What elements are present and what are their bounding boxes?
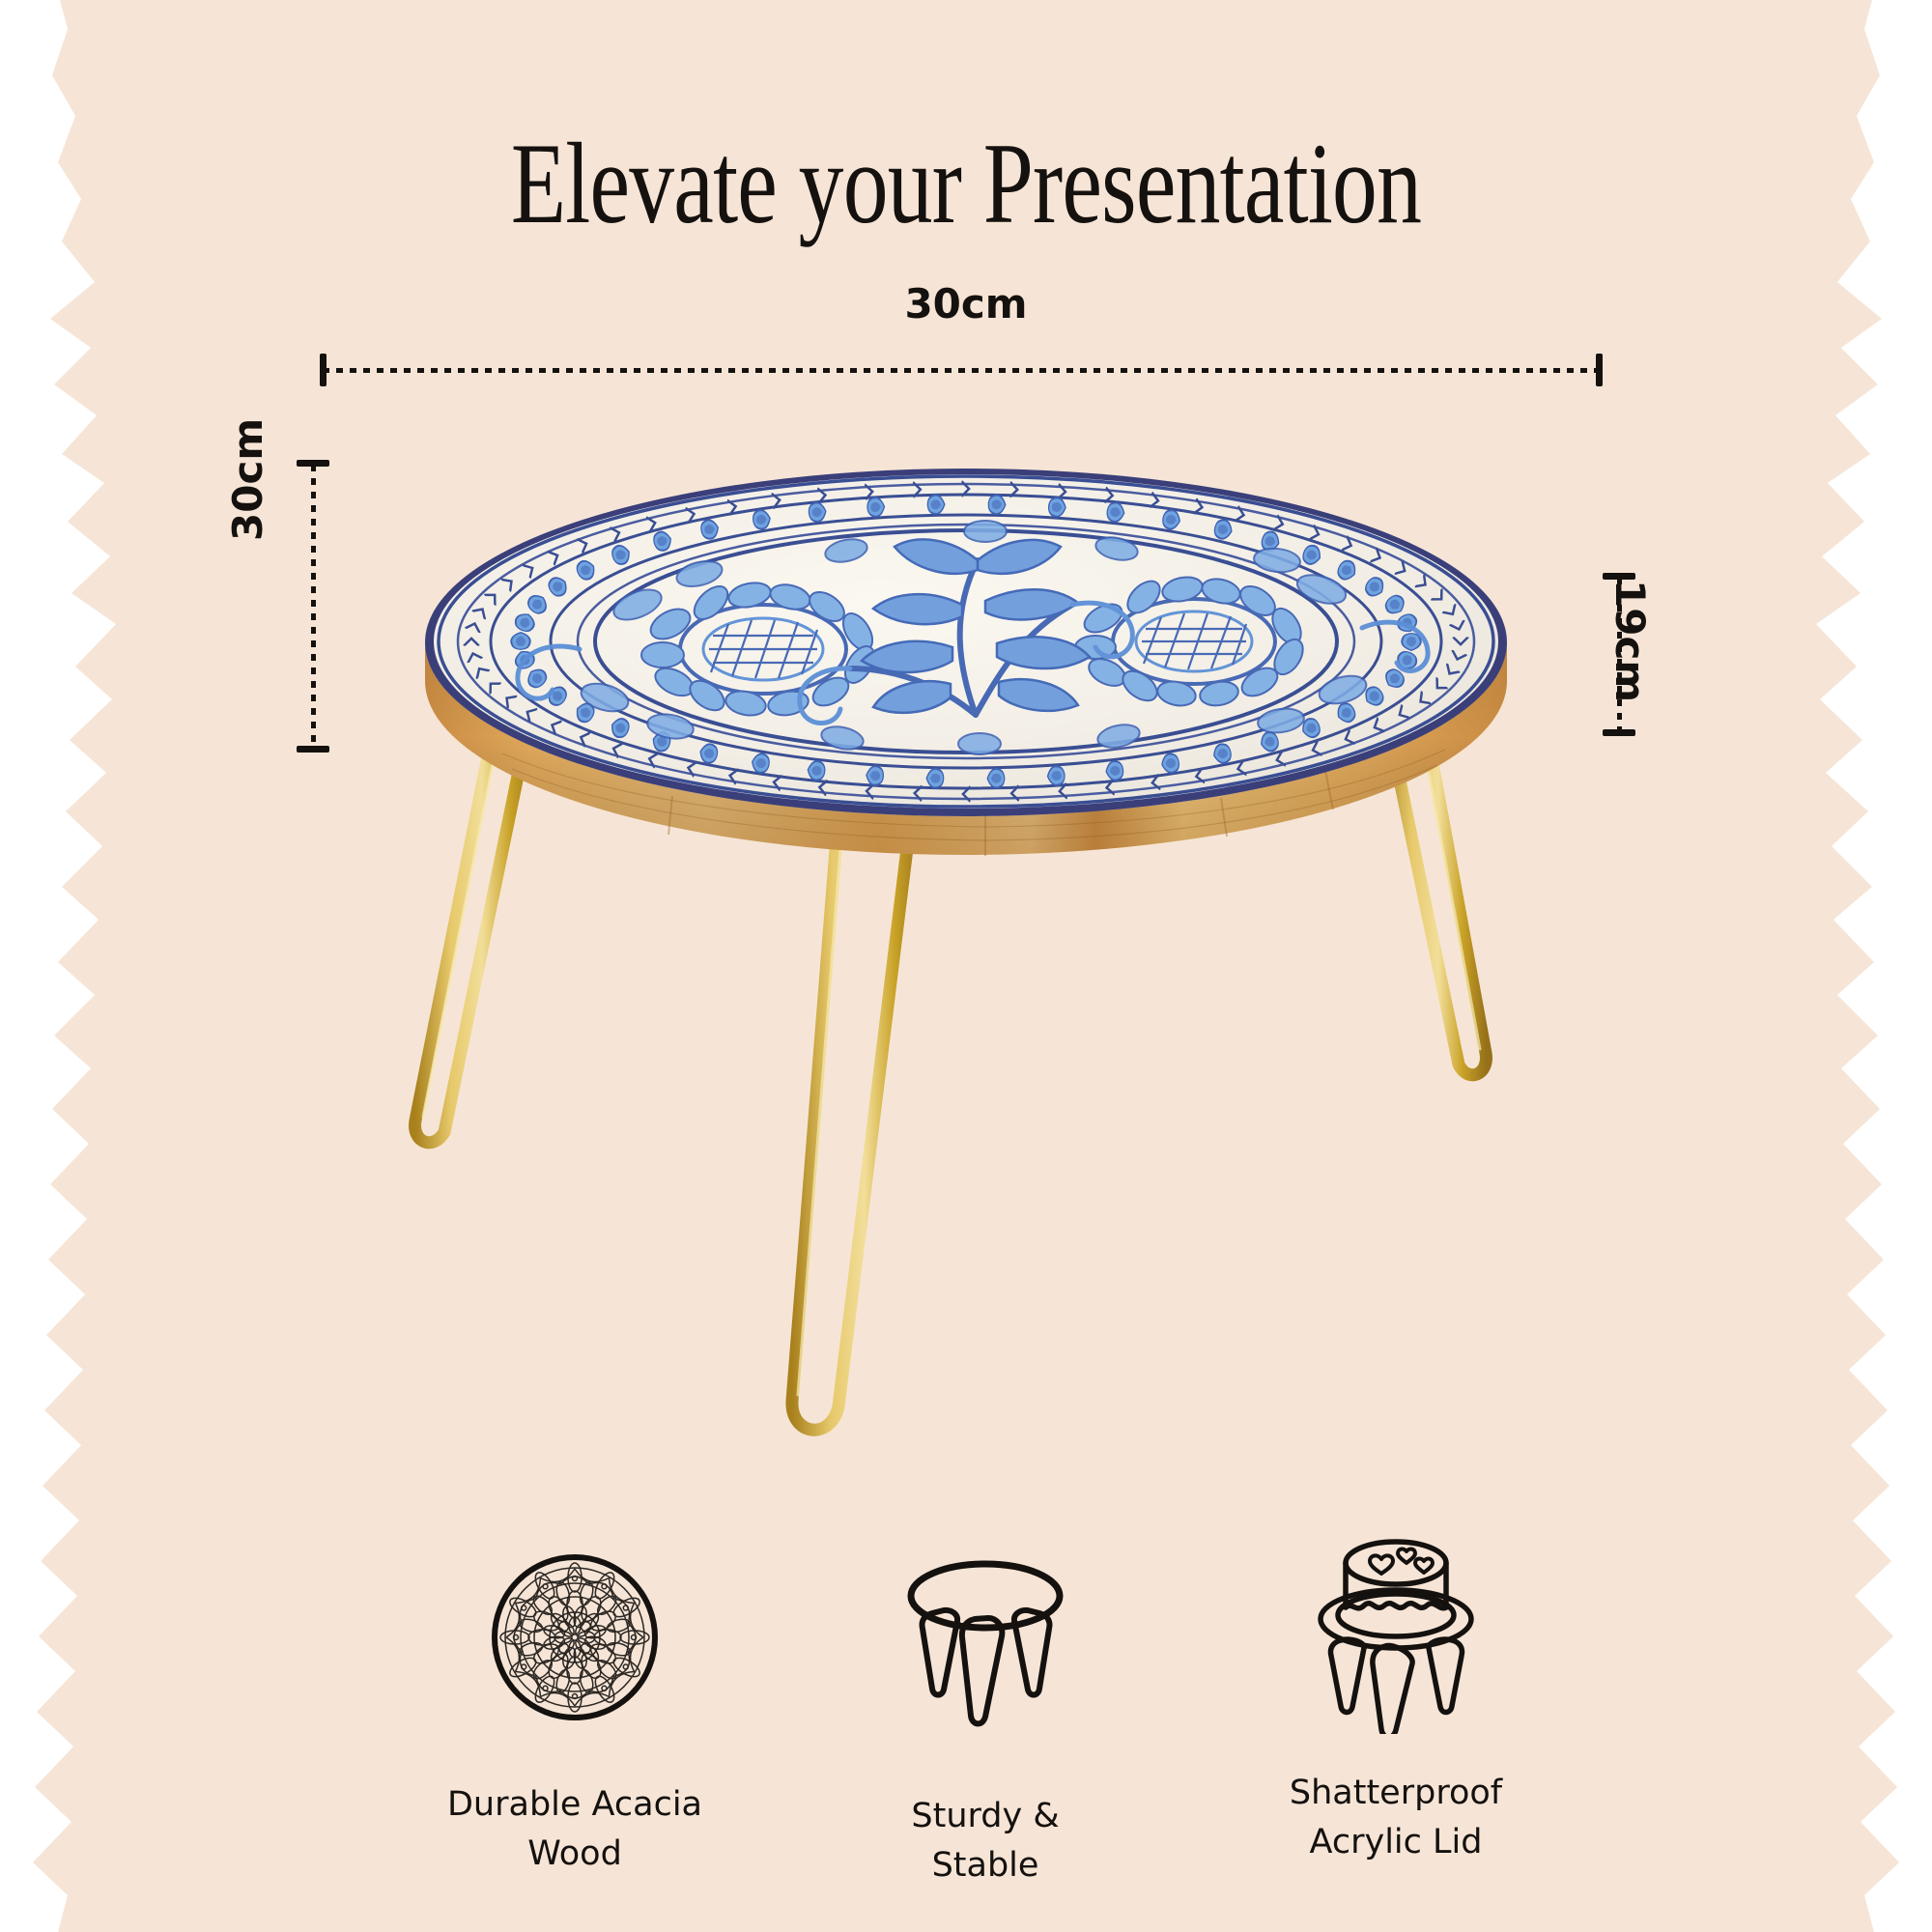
feature-list: Durable Acacia Wood Sturdy & Stable — [415, 1526, 1555, 1913]
mandala-pattern-icon — [478, 1526, 671, 1734]
dimension-line-width — [323, 368, 1600, 373]
dimension-cap-width-right — [1596, 354, 1603, 386]
dimension-cap-width-left — [320, 354, 327, 386]
dimension-label-width: 30cm — [0, 280, 1932, 327]
feature-item-sturdy-stable: Sturdy & Stable — [826, 1526, 1145, 1890]
product-image-cake-stand — [309, 425, 1623, 1507]
infographic-canvas: Elevate your Presentation 30cm 30cm 19cm — [0, 0, 1932, 1932]
cake-on-stand-icon — [1293, 1526, 1500, 1734]
page-title: Elevate your Presentation — [213, 126, 1719, 241]
ceramic-tabletop — [425, 469, 1507, 816]
feature-item-acrylic-lid: Shatterproof Acrylic Lid — [1236, 1526, 1555, 1867]
feature-label: Durable Acacia Wood — [447, 1780, 702, 1879]
feature-label: Sturdy & Stable — [911, 1792, 1059, 1890]
feature-label: Shatterproof Acrylic Lid — [1290, 1769, 1502, 1867]
three-legged-stool-icon — [882, 1526, 1090, 1734]
feature-item-acacia-wood: Durable Acacia Wood — [415, 1526, 734, 1879]
dimension-label-diameter: 30cm — [224, 418, 271, 541]
